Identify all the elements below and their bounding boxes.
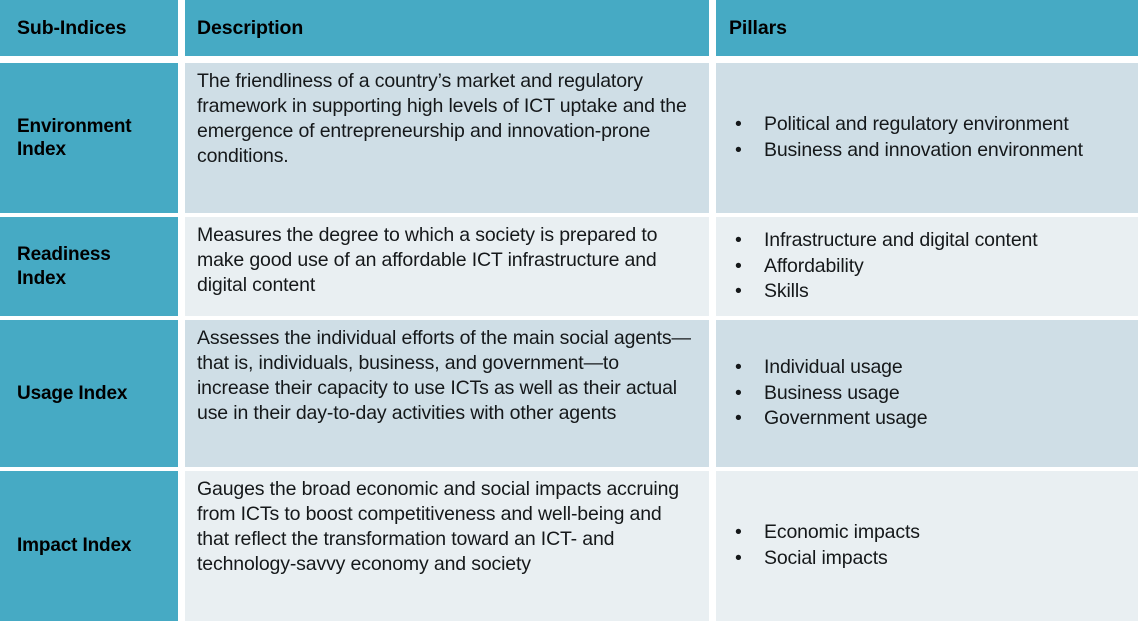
table: Sub-Indices Description Pillars Environm… (0, 0, 1138, 616)
pillar-label: Business and innovation environment (764, 139, 1083, 161)
row-description-text: The friendliness of a country’s market a… (197, 69, 695, 169)
row-description-text: Assesses the individual efforts of the m… (197, 326, 695, 426)
row-label-readiness-index: Readiness Index (0, 217, 178, 316)
column-header-sub-indices: Sub-Indices (0, 0, 178, 56)
pillar-list-item: • Business usage (729, 381, 1126, 406)
row-label-text: Usage Index (17, 382, 164, 405)
pillar-list-item: • Political and regulatory environment (729, 112, 1126, 137)
table-header-row: Sub-Indices Description Pillars (0, 0, 1138, 56)
pillar-label: Social impacts (764, 547, 888, 569)
pillar-list-item: • Infrastructure and digital content (729, 228, 1126, 253)
row-pillars-usage-index: • Individual usage • Business usage • Go… (716, 320, 1138, 467)
row-pillars-readiness-index: • Infrastructure and digital content • A… (716, 217, 1138, 316)
row-label-text: Readiness Index (17, 243, 164, 289)
column-header-description-label: Description (197, 17, 303, 40)
row-label-text: Environment Index (17, 115, 164, 161)
row-description-impact-index: Gauges the broad economic and social imp… (185, 471, 709, 621)
table-row: Impact Index Gauges the broad economic a… (0, 471, 1138, 621)
pillar-list-item: • Individual usage (729, 355, 1126, 380)
pillar-label: Economic impacts (764, 521, 920, 543)
bullet-icon: • (735, 546, 742, 571)
row-pillars-environment-index: • Political and regulatory environment •… (716, 63, 1138, 213)
pillar-list-item: • Social impacts (729, 546, 1126, 571)
pillar-list: • Infrastructure and digital content • A… (729, 228, 1126, 306)
networked-readiness-subindices-table: Sub-Indices Description Pillars Environm… (0, 0, 1138, 616)
row-label-impact-index: Impact Index (0, 471, 178, 621)
row-description-text: Measures the degree to which a society i… (197, 223, 695, 298)
bullet-icon: • (735, 355, 742, 380)
bullet-icon: • (735, 406, 742, 431)
row-pillars-impact-index: • Economic impacts • Social impacts (716, 471, 1138, 621)
row-label-text: Impact Index (17, 534, 164, 557)
pillar-list-item: • Economic impacts (729, 520, 1126, 545)
pillar-list-item: • Business and innovation environment (729, 138, 1126, 163)
bullet-icon: • (735, 138, 742, 163)
pillar-list-item: • Skills (729, 279, 1126, 304)
bullet-icon: • (735, 254, 742, 279)
row-description-usage-index: Assesses the individual efforts of the m… (185, 320, 709, 467)
row-label-usage-index: Usage Index (0, 320, 178, 467)
bullet-icon: • (735, 279, 742, 304)
pillar-label: Business usage (764, 382, 900, 404)
row-label-environment-index: Environment Index (0, 63, 178, 213)
pillar-list-item: • Affordability (729, 254, 1126, 279)
pillar-list-item: • Government usage (729, 406, 1126, 431)
pillar-label: Skills (764, 280, 809, 302)
row-description-readiness-index: Measures the degree to which a society i… (185, 217, 709, 316)
pillar-label: Individual usage (764, 356, 903, 378)
pillar-label: Political and regulatory environment (764, 113, 1069, 135)
column-header-description: Description (185, 0, 709, 56)
pillar-label: Affordability (764, 255, 864, 277)
table-row: Environment Index The friendliness of a … (0, 63, 1138, 213)
table-row: Readiness Index Measures the degree to w… (0, 217, 1138, 316)
table-row: Usage Index Assesses the individual effo… (0, 320, 1138, 467)
column-header-pillars: Pillars (716, 0, 1138, 56)
pillar-list: • Political and regulatory environment •… (729, 112, 1126, 164)
row-description-text: Gauges the broad economic and social imp… (197, 477, 695, 577)
pillar-list: • Economic impacts • Social impacts (729, 520, 1126, 572)
column-header-sub-indices-label: Sub-Indices (17, 17, 126, 40)
bullet-icon: • (735, 381, 742, 406)
bullet-icon: • (735, 112, 742, 137)
column-header-pillars-label: Pillars (729, 17, 787, 40)
bullet-icon: • (735, 228, 742, 253)
bullet-icon: • (735, 520, 742, 545)
pillar-list: • Individual usage • Business usage • Go… (729, 355, 1126, 433)
pillar-label: Government usage (764, 407, 927, 429)
pillar-label: Infrastructure and digital content (764, 229, 1037, 251)
row-description-environment-index: The friendliness of a country’s market a… (185, 63, 709, 213)
